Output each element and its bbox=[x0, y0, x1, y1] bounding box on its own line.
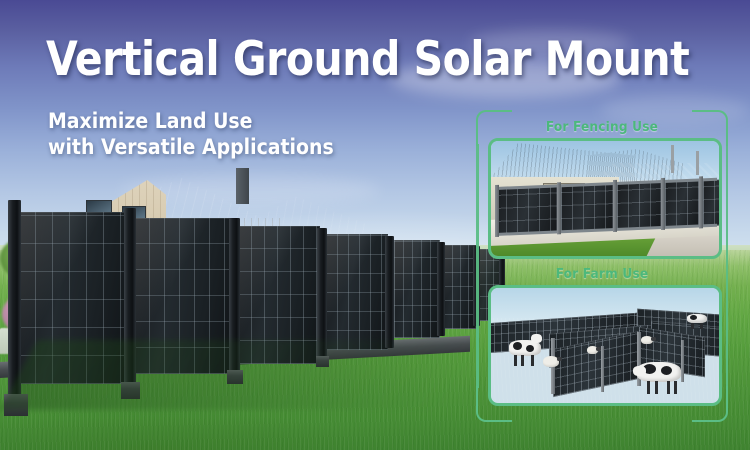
fence-post bbox=[8, 200, 21, 398]
fence-post bbox=[613, 180, 617, 232]
photo-fencing-use[interactable] bbox=[488, 138, 722, 259]
fence-post bbox=[437, 242, 445, 336]
sheep bbox=[543, 356, 559, 367]
solar-panel bbox=[703, 179, 722, 226]
solar-panel bbox=[617, 182, 661, 230]
fence-post bbox=[557, 182, 561, 234]
fence-post bbox=[699, 176, 703, 228]
cow-spot bbox=[513, 342, 522, 350]
sheep bbox=[587, 346, 598, 354]
utility-pole bbox=[671, 145, 674, 173]
subtitle-line-1: Maximize Land Use bbox=[48, 108, 334, 134]
product-banner: Vertical Ground Solar Mount Maximize Lan… bbox=[0, 0, 750, 450]
cow bbox=[637, 362, 681, 394]
mount-post bbox=[601, 346, 604, 392]
sheep-head bbox=[596, 347, 601, 351]
cow-head bbox=[633, 366, 646, 376]
mount-post bbox=[681, 340, 684, 382]
subtitle-line-2: with Versatile Applications bbox=[48, 134, 334, 160]
page-title: Vertical Ground Solar Mount bbox=[46, 36, 689, 83]
subtitle: Maximize Land Use with Versatile Applica… bbox=[48, 108, 334, 160]
cow-head bbox=[531, 334, 542, 343]
cow-spot bbox=[661, 366, 672, 375]
showcase-frame: For Fencing Use bbox=[476, 110, 728, 422]
solar-panel bbox=[444, 245, 476, 329]
cow bbox=[687, 314, 707, 329]
solar-panel bbox=[326, 234, 388, 350]
solar-fence bbox=[495, 180, 717, 235]
photo-farm-use[interactable] bbox=[488, 285, 722, 406]
cow-leg bbox=[655, 381, 658, 394]
card-label-fencing: For Fencing Use bbox=[476, 119, 728, 135]
solar-panel bbox=[495, 186, 557, 235]
fence-post bbox=[495, 185, 499, 237]
cow bbox=[509, 340, 541, 366]
cow-leg bbox=[700, 323, 703, 329]
cow-leg bbox=[674, 381, 677, 394]
utility-pole bbox=[696, 151, 699, 175]
solar-panel bbox=[394, 240, 440, 338]
cow-leg bbox=[531, 355, 534, 366]
sheep-head bbox=[557, 357, 562, 361]
fence-post bbox=[661, 178, 665, 230]
cow-leg bbox=[667, 381, 670, 394]
cow-spot bbox=[526, 345, 534, 352]
fence-post bbox=[385, 236, 394, 348]
sheep bbox=[641, 336, 653, 344]
cow-leg bbox=[647, 381, 650, 394]
cow-leg bbox=[514, 355, 517, 366]
solar-panel bbox=[665, 180, 699, 227]
solar-panel bbox=[561, 184, 613, 232]
cow-leg bbox=[691, 323, 694, 329]
card-label-farm: For Farm Use bbox=[476, 266, 728, 282]
fence-shadow bbox=[0, 340, 557, 410]
sheep-head bbox=[651, 337, 656, 341]
cow-leg bbox=[521, 355, 524, 366]
cow-spot bbox=[690, 315, 697, 320]
